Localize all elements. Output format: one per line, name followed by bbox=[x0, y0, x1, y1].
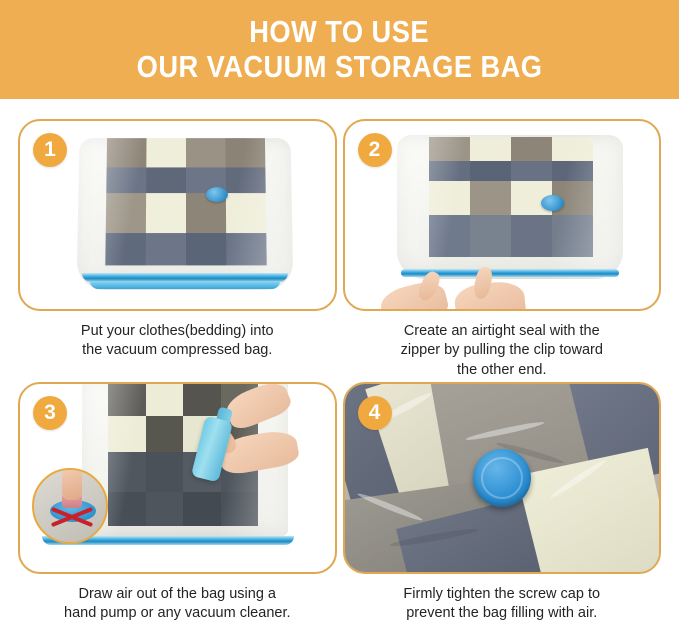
warning-inset bbox=[32, 468, 108, 544]
plaid-bedding bbox=[429, 137, 593, 257]
step-2-number-badge: 2 bbox=[358, 133, 392, 167]
step-card-1: 1 bbox=[18, 119, 337, 380]
page-title-line-1: HOW TO USE bbox=[250, 15, 430, 50]
step-2-caption: Create an airtight seal with the zipper … bbox=[343, 322, 662, 380]
step-1-number-badge: 1 bbox=[33, 133, 67, 167]
bag-valve-icon bbox=[541, 195, 564, 211]
step-card-2: 2 bbox=[343, 119, 662, 380]
page-title-line-2: OUR VACUUM STORAGE BAG bbox=[137, 50, 543, 85]
step-1-image-frame: 1 bbox=[18, 119, 337, 311]
step-card-3: 3 bbox=[18, 382, 337, 637]
step-3-image-frame: 3 bbox=[18, 382, 337, 574]
red-x-warning-icon bbox=[50, 502, 94, 532]
infographic-page: HOW TO USE OUR VACUUM STORAGE BAG 1 bbox=[0, 0, 679, 641]
step-2-photo bbox=[345, 121, 660, 309]
step-1-caption: Put your clothes(bedding) into the vacuu… bbox=[18, 322, 337, 361]
steps-grid: 1 bbox=[0, 99, 679, 641]
step-4-number-badge: 4 bbox=[358, 396, 392, 430]
step-4-image-frame: 4 bbox=[343, 382, 662, 574]
step-4-caption: Firmly tighten the screw cap to prevent … bbox=[343, 585, 662, 624]
plaid-bedding bbox=[105, 138, 266, 265]
step-3-caption: Draw air out of the bag using a hand pum… bbox=[18, 585, 337, 624]
header-banner: HOW TO USE OUR VACUUM STORAGE BAG bbox=[0, 0, 679, 99]
vacuum-bag bbox=[77, 138, 294, 290]
screw-cap bbox=[473, 449, 531, 507]
vacuum-bag bbox=[397, 135, 623, 279]
step-3-photo bbox=[20, 384, 335, 572]
step-3-number-badge: 3 bbox=[33, 396, 67, 430]
finger-icon bbox=[62, 468, 82, 500]
step-4-photo bbox=[345, 384, 660, 572]
step-2-image-frame: 2 bbox=[343, 119, 662, 311]
step-1-photo bbox=[20, 121, 335, 309]
step-card-4: 4 Firmly tighten the screw cap to preven… bbox=[343, 382, 662, 637]
bag-valve-icon bbox=[206, 187, 228, 202]
bag-zipper-edge bbox=[90, 281, 280, 289]
